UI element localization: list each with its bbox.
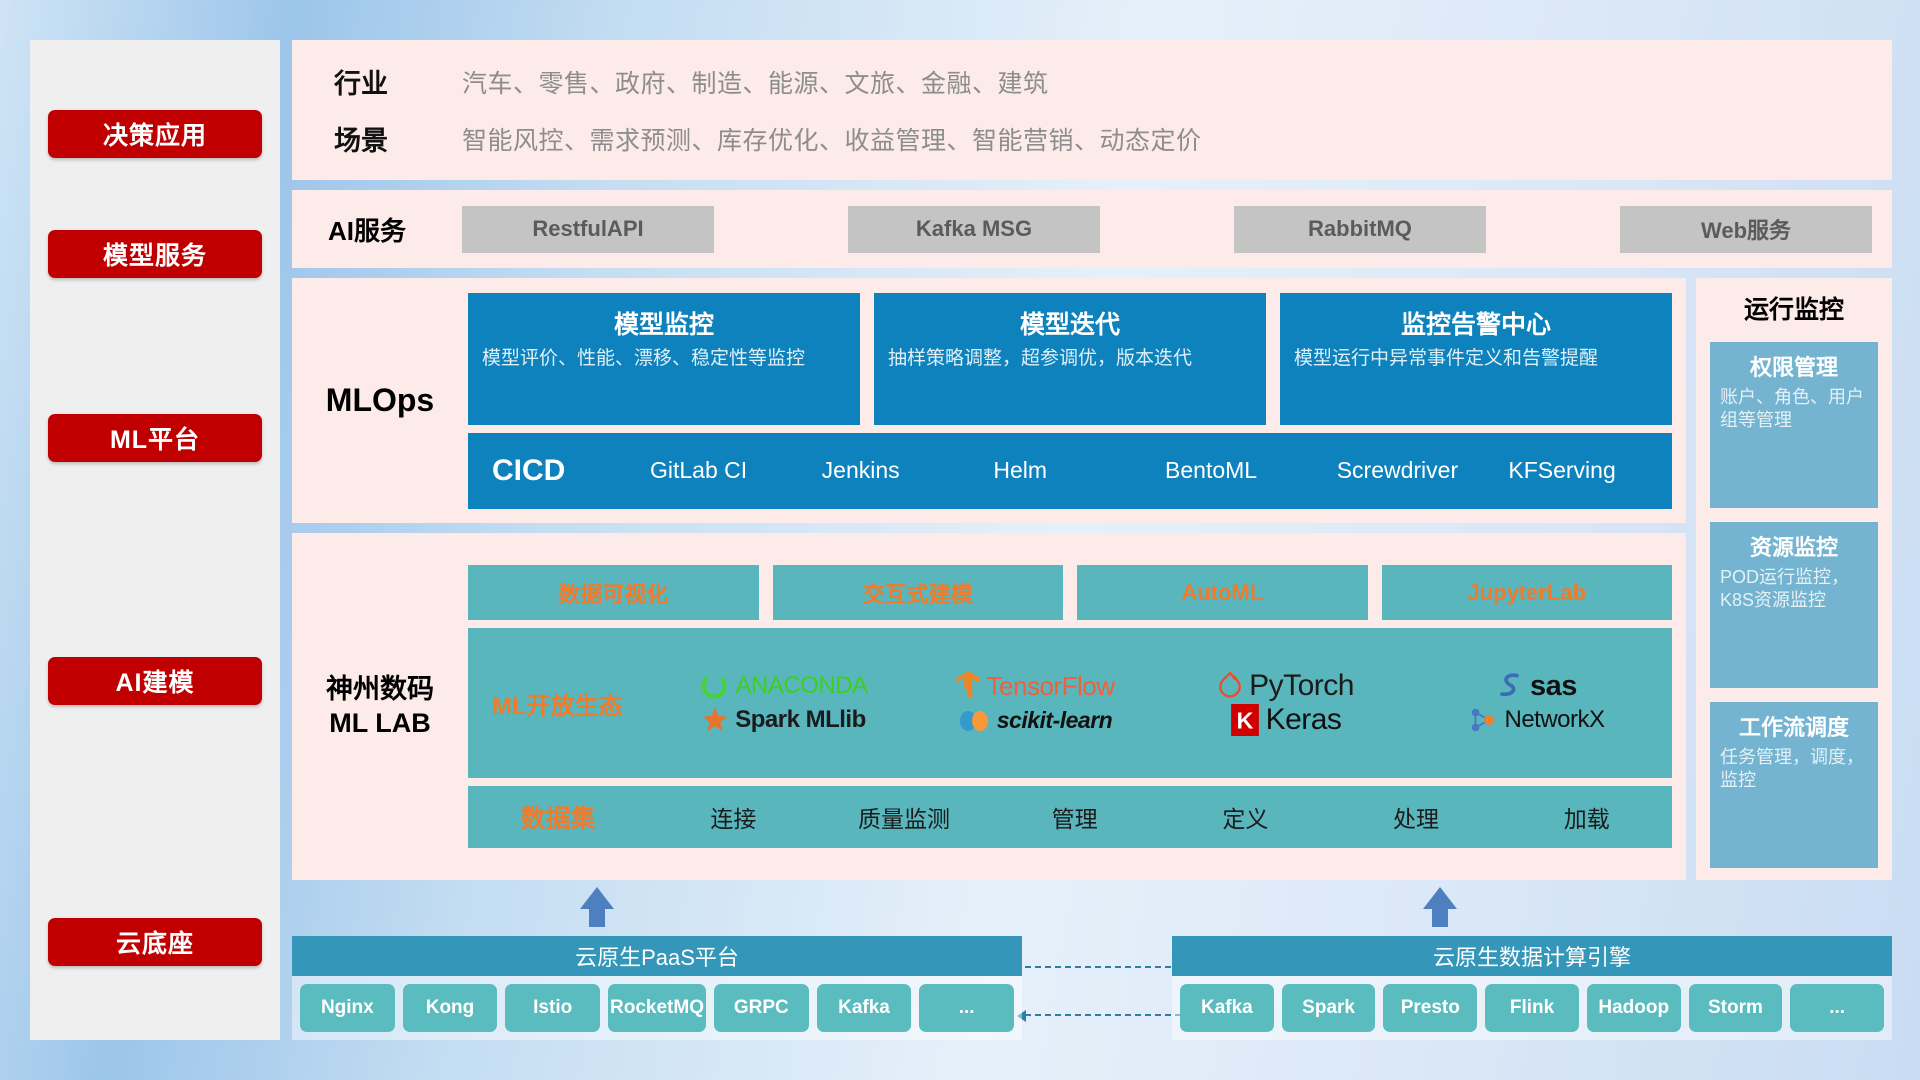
service-chip-restfulapi[interactable]: RestfulAPI: [462, 206, 714, 253]
monitor-card-workflow[interactable]: 工作流调度 任务管理，调度，监控: [1710, 702, 1878, 868]
spark-mllib-logo-icon: Spark MLlib: [701, 706, 866, 734]
monitor-card-resource[interactable]: 资源监控 POD运行监控，K8S资源监控: [1710, 522, 1878, 688]
card-desc: 抽样策略调整，超参调优，版本迭代: [888, 347, 1252, 372]
networkx-logo-icon: NetworkX: [1468, 705, 1604, 735]
paas-chip-kong[interactable]: Kong: [403, 984, 498, 1032]
card-title: 资源监控: [1720, 530, 1868, 562]
layer-rail: 决策应用 模型服务 ML平台 AI建模 云底座: [30, 40, 280, 1040]
card-desc: 任务管理，调度，监控: [1720, 746, 1868, 793]
ml-lab-label: 神州数码 ML LAB: [292, 673, 468, 741]
lab-tool-data-visualization[interactable]: 数据可视化: [468, 565, 759, 620]
keras-logo-icon: K Keras: [1230, 703, 1342, 737]
dataset-item-definition[interactable]: 定义: [1160, 800, 1331, 834]
compute-chip-presto[interactable]: Presto: [1383, 984, 1477, 1032]
ml-lab-label-line1: 神州数码: [292, 673, 468, 707]
layer-label: AI建模: [115, 663, 194, 699]
cicd-item-gitlab-ci[interactable]: GitLab CI: [642, 457, 814, 483]
card-desc: 模型评价、性能、漂移、稳定性等监控: [482, 347, 846, 372]
layer-label: ML平台: [110, 420, 200, 456]
anaconda-logo-icon: ANACONDA: [699, 671, 867, 701]
mlops-card-model-iteration[interactable]: 模型迭代 抽样策略调整，超参调优，版本迭代: [874, 293, 1266, 425]
compute-chip-hadoop[interactable]: Hadoop: [1587, 984, 1681, 1032]
card-desc: 账户、角色、用户组等管理: [1720, 386, 1868, 433]
arrow-stem-compute-icon: [1432, 907, 1448, 927]
networkx-label: NetworkX: [1504, 706, 1604, 734]
scikit-learn-logo-icon: scikit-learn: [957, 705, 1112, 735]
ml-ecosystem-label: ML开放生态: [478, 686, 658, 721]
dataset-title: 数据集: [468, 799, 648, 835]
main-column: 行业 汽车、零售、政府、制造、能源、文旅、金融、建筑 场景 智能风控、需求预测、…: [292, 40, 1892, 1040]
cloud-base-region: 云原生PaaS平台 Nginx Kong Istio RocketMQ GRPC…: [292, 890, 1892, 1040]
paas-chip-nginx[interactable]: Nginx: [300, 984, 395, 1032]
layer-chip-cloud-base[interactable]: 云底座: [48, 918, 262, 966]
layer-label: 云底座: [116, 924, 194, 960]
tensorflow-label: TensorFlow: [987, 671, 1115, 702]
paas-title: 云原生PaaS平台: [292, 936, 1022, 976]
service-chip-kafka-msg[interactable]: Kafka MSG: [848, 206, 1100, 253]
cicd-title: CICD: [492, 454, 642, 488]
scenario-value: 智能风控、需求预测、库存优化、收益管理、智能营销、动态定价: [462, 121, 1202, 157]
monitor-card-permission[interactable]: 权限管理 账户、角色、用户组等管理: [1710, 342, 1878, 508]
ai-services-band: AI服务 RestfulAPI Kafka MSG RabbitMQ Web服务: [292, 190, 1892, 268]
dataset-item-processing[interactable]: 处理: [1331, 800, 1502, 834]
card-title: 工作流调度: [1720, 710, 1868, 742]
industry-row: 行业 汽车、零售、政府、制造、能源、文旅、金融、建筑: [312, 62, 1872, 101]
arrow-up-paas-icon: [580, 887, 614, 909]
compute-chip-storm[interactable]: Storm: [1689, 984, 1783, 1032]
mlops-band: MLOps 模型监控 模型评价、性能、漂移、稳定性等监控 模型迭代 抽样策略调整…: [292, 278, 1686, 523]
spark-mllib-label: Spark MLlib: [735, 706, 866, 734]
card-desc: POD运行监控，K8S资源监控: [1720, 566, 1868, 613]
platform-region: MLOps 模型监控 模型评价、性能、漂移、稳定性等监控 模型迭代 抽样策略调整…: [292, 278, 1892, 880]
dataset-item-connect[interactable]: 连接: [648, 800, 819, 834]
card-desc: 模型运行中异常事件定义和告警提醒: [1294, 347, 1658, 372]
mlops-card-model-monitoring[interactable]: 模型监控 模型评价、性能、漂移、稳定性等监控: [468, 293, 860, 425]
industry-key: 行业: [312, 62, 462, 101]
paas-chip-kafka[interactable]: Kafka: [817, 984, 912, 1032]
service-chip-web-service[interactable]: Web服务: [1620, 206, 1872, 253]
compute-title: 云原生数据计算引擎: [1172, 936, 1892, 976]
dataset-item-quality-monitoring[interactable]: 质量监测: [819, 800, 990, 834]
mlops-card-alert-center[interactable]: 监控告警中心 模型运行中异常事件定义和告警提醒: [1280, 293, 1672, 425]
dataset-item-management[interactable]: 管理: [989, 800, 1160, 834]
layer-label: 模型服务: [103, 236, 207, 272]
keras-label: Keras: [1266, 703, 1342, 737]
anaconda-label: ANACONDA: [735, 672, 867, 700]
architecture-diagram: 决策应用 模型服务 ML平台 AI建模 云底座 行业 汽车、零售、政府、制造、能…: [30, 40, 1892, 1040]
arrow-stem-paas-icon: [589, 907, 605, 927]
compute-chip-more[interactable]: ...: [1790, 984, 1884, 1032]
sas-label: sas: [1530, 670, 1577, 703]
runtime-monitoring-panel: 运行监控 权限管理 账户、角色、用户组等管理 资源监控 POD运行监控，K8S资…: [1696, 278, 1892, 880]
lab-tool-jupyterlab[interactable]: JupyterLab: [1382, 565, 1673, 620]
runtime-monitoring-title: 运行监控: [1710, 290, 1878, 326]
ml-lab-band: 神州数码 ML LAB 数据可视化 交互式建模 AutoML JupyterLa…: [292, 533, 1686, 880]
industry-value: 汽车、零售、政府、制造、能源、文旅、金融、建筑: [462, 64, 1049, 100]
cicd-item-kfserving[interactable]: KFServing: [1500, 457, 1672, 483]
card-title: 模型迭代: [888, 305, 1252, 341]
cicd-item-bentoml[interactable]: BentoML: [1157, 457, 1329, 483]
arrow-up-compute-icon: [1423, 887, 1457, 909]
compute-chip-flink[interactable]: Flink: [1485, 984, 1579, 1032]
decision-applications-band: 行业 汽车、零售、政府、制造、能源、文旅、金融、建筑 场景 智能风控、需求预测、…: [292, 40, 1892, 180]
cicd-item-screwdriver[interactable]: Screwdriver: [1329, 457, 1501, 483]
paas-block: 云原生PaaS平台 Nginx Kong Istio RocketMQ GRPC…: [292, 936, 1022, 1040]
mlops-label: MLOps: [292, 382, 468, 419]
layer-chip-ai-modeling[interactable]: AI建模: [48, 657, 262, 705]
paas-chip-grpc[interactable]: GRPC: [714, 984, 809, 1032]
scenario-key: 场景: [312, 119, 462, 158]
tensorflow-logo-icon: TensorFlow: [955, 670, 1115, 702]
dataset-item-loading[interactable]: 加载: [1501, 800, 1672, 834]
paas-chip-istio[interactable]: Istio: [505, 984, 600, 1032]
compute-chip-kafka[interactable]: Kafka: [1180, 984, 1274, 1032]
layer-chip-decision-apps[interactable]: 决策应用: [48, 110, 262, 158]
paas-chip-more[interactable]: ...: [919, 984, 1014, 1032]
card-title: 模型监控: [482, 305, 846, 341]
cicd-item-helm[interactable]: Helm: [985, 457, 1157, 483]
ml-lab-label-line2: ML LAB: [292, 707, 468, 741]
scikit-learn-label: scikit-learn: [997, 707, 1112, 734]
ai-services-label: AI服务: [312, 211, 462, 248]
layer-chip-ml-platform[interactable]: ML平台: [48, 414, 262, 462]
compute-chip-spark[interactable]: Spark: [1282, 984, 1376, 1032]
svg-text:K: K: [1236, 708, 1253, 734]
lab-tool-automl[interactable]: AutoML: [1077, 565, 1368, 620]
dataset-bar: 数据集 连接 质量监测 管理 定义 处理 加载: [468, 786, 1672, 848]
ml-ecosystem-panel: ML开放生态 ANACONDA: [468, 628, 1672, 778]
scenario-row: 场景 智能风控、需求预测、库存优化、收益管理、智能营销、动态定价: [312, 119, 1872, 158]
compute-engine-block: 云原生数据计算引擎 Kafka Spark Presto Flink Hadoo…: [1172, 936, 1892, 1040]
pytorch-logo-icon: PyTorch: [1217, 669, 1354, 703]
card-title: 权限管理: [1720, 350, 1868, 382]
pytorch-label: PyTorch: [1249, 669, 1354, 703]
layer-chip-model-service[interactable]: 模型服务: [48, 230, 262, 278]
card-title: 监控告警中心: [1294, 305, 1658, 341]
lab-tool-interactive-modeling[interactable]: 交互式建模: [773, 565, 1064, 620]
cicd-bar: CICD GitLab CI Jenkins Helm BentoML Scre…: [468, 433, 1672, 509]
sas-logo-icon: sas: [1496, 670, 1577, 703]
cicd-item-jenkins[interactable]: Jenkins: [814, 457, 986, 483]
service-chip-rabbitmq[interactable]: RabbitMQ: [1234, 206, 1486, 253]
layer-label: 决策应用: [103, 116, 207, 152]
paas-chip-rocketmq[interactable]: RocketMQ: [608, 984, 706, 1032]
